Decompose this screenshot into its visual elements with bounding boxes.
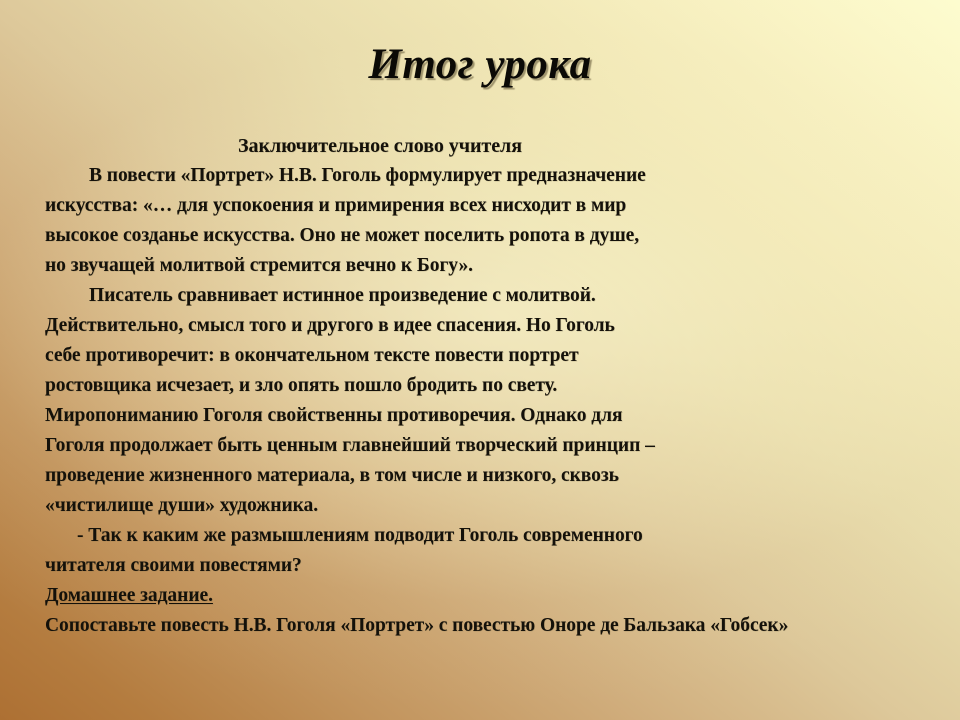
- paragraph-1-line-4: но звучащей молитвой стремится вечно к Б…: [45, 251, 917, 281]
- slide-title: Итог урока: [0, 42, 960, 87]
- teacher-closing-words-subtitle: Заключительное слово учителя: [53, 131, 707, 161]
- slide-canvas: Итог урока Заключительное слово учителя …: [0, 0, 960, 720]
- paragraph-2-line-8: «чистилище души» художника.: [45, 491, 917, 521]
- homework-task: Сопоставьте повесть Н.В. Гоголя «Портрет…: [45, 611, 917, 641]
- paragraph-1-line-2: искусства: «… для успокоения и примирени…: [45, 191, 917, 221]
- question-line-2: читателя своими повестями?: [45, 551, 917, 581]
- slide-body: Заключительное слово учителя В повести «…: [45, 131, 917, 641]
- paragraph-2-line-4: ростовщика исчезает, и зло опять пошло б…: [45, 371, 917, 401]
- paragraph-2-line-1: Писатель сравнивает истинное произведени…: [45, 281, 917, 311]
- slide-content: Итог урока Заключительное слово учителя …: [0, 0, 960, 720]
- paragraph-2-line-7: проведение жизненного материала, в том ч…: [45, 461, 917, 491]
- homework-heading: Домашнее задание.: [45, 581, 917, 611]
- paragraph-2-line-2: Действительно, смысл того и другого в ид…: [45, 311, 917, 341]
- paragraph-2-line-5: Миропониманию Гоголя свойственны противо…: [45, 401, 917, 431]
- paragraph-2-line-6: Гоголя продолжает быть ценным главнейший…: [45, 431, 917, 461]
- question-line-1: - Так к каким же размышлениям подводит Г…: [45, 521, 917, 551]
- paragraph-1-line-1: В повести «Портрет» Н.В. Гоголь формулир…: [45, 161, 917, 191]
- paragraph-2-line-3: себе противоречит: в окончательном текст…: [45, 341, 917, 371]
- paragraph-1-line-3: высокое созданье искусства. Оно не может…: [45, 221, 917, 251]
